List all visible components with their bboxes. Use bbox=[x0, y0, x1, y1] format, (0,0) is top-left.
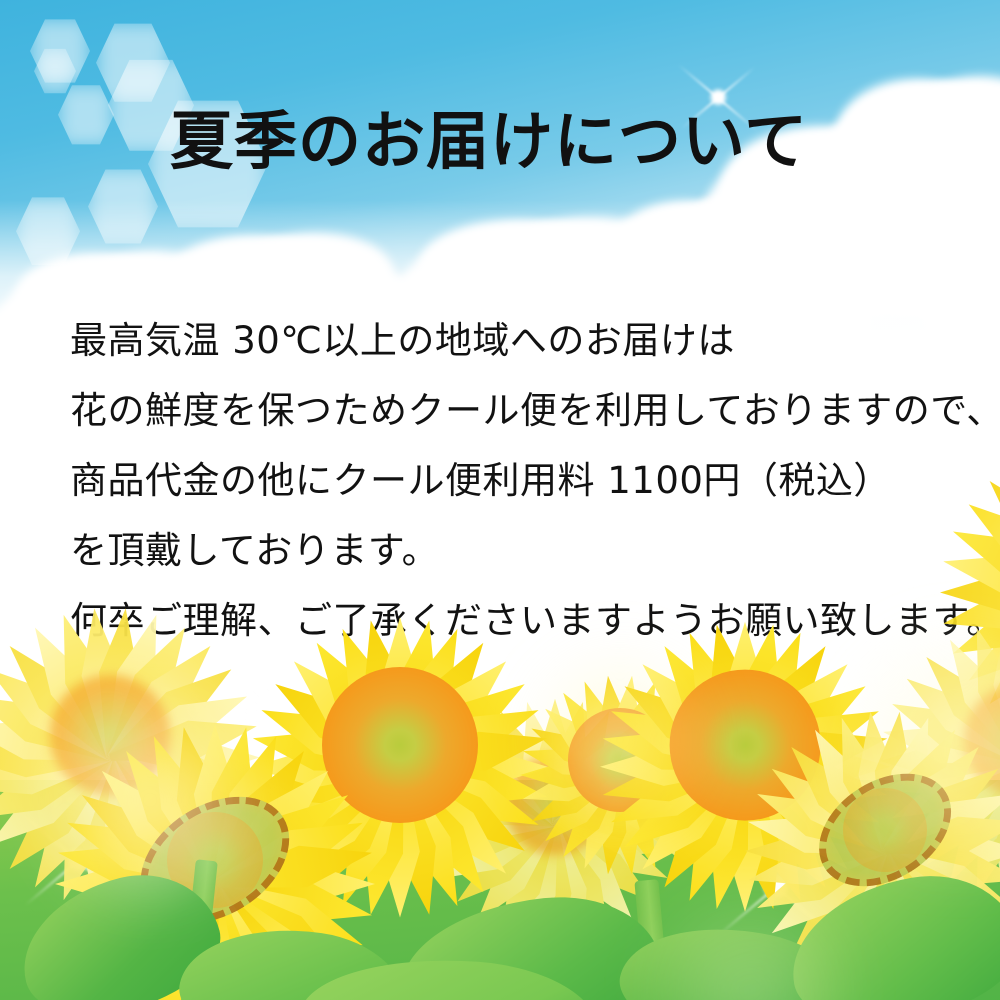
notice-line: 商品代金の他にクール便利用料 1100円（税込） bbox=[70, 446, 970, 516]
sunflower-field bbox=[0, 555, 1000, 1000]
summer-delivery-notice-banner: 夏季のお届けについて 最高気温 30℃以上の地域へのお届けは花の鮮度を保つためク… bbox=[0, 0, 1000, 1000]
flower-disc-inner bbox=[843, 788, 927, 872]
notice-line: 最高気温 30℃以上の地域へのお届けは bbox=[70, 306, 970, 376]
notice-line: 花の鮮度を保つためクール便を利用しておりますので、 bbox=[70, 376, 970, 446]
notice-line: を頂戴しております。 bbox=[70, 516, 970, 586]
page-title: 夏季のお届けについて bbox=[170, 110, 808, 173]
